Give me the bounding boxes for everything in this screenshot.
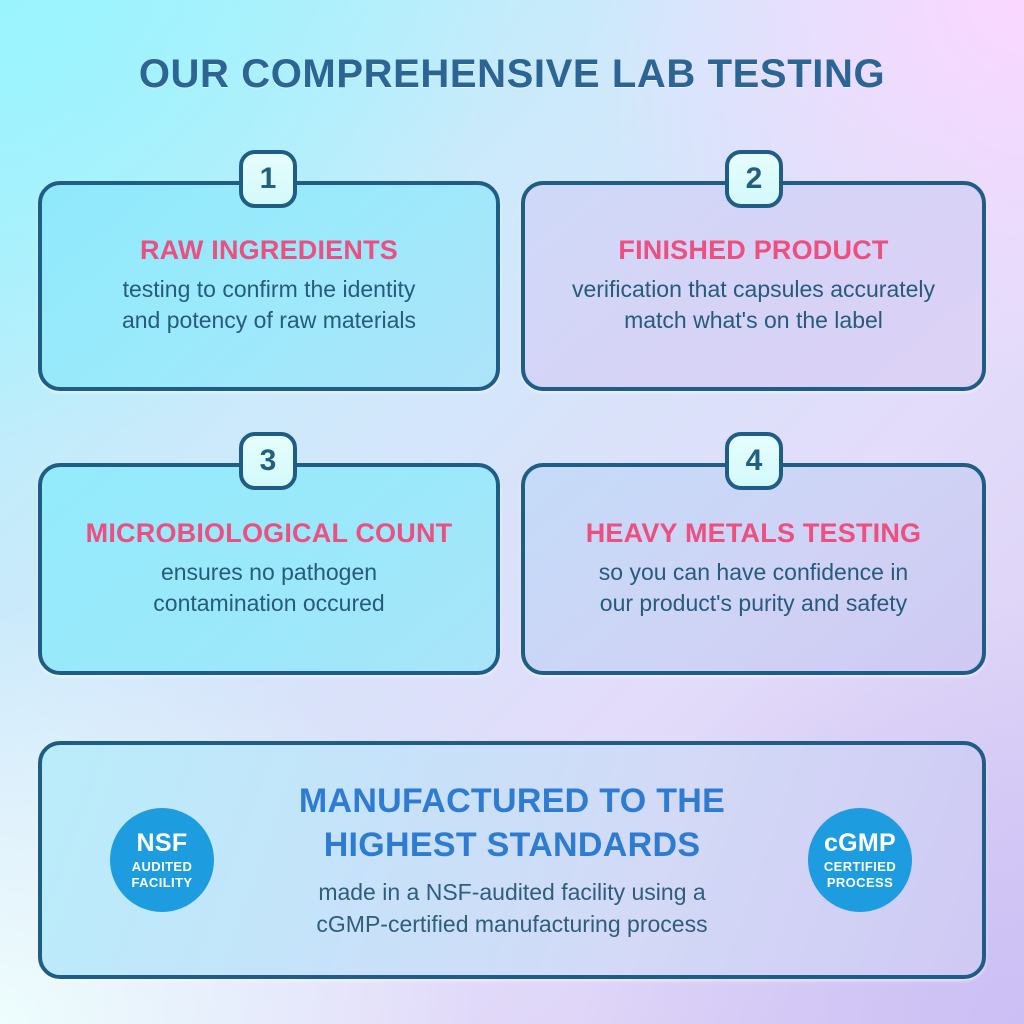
card-body: ensures no pathogen contamination occure…	[60, 557, 478, 620]
banner-subtext-line: made in a NSF-audited facility using a	[252, 877, 772, 909]
infographic-poster: OUR COMPREHENSIVE LAB TESTING RAW INGRED…	[0, 0, 1024, 1024]
testing-card-finished-product: FINISHED PRODUCT verification that capsu…	[521, 181, 986, 391]
card-body-line: testing to confirm the identity	[60, 274, 478, 305]
card-heading: MICROBIOLOGICAL COUNT	[60, 518, 478, 549]
card-content: HEAVY METALS TESTING so you can have con…	[525, 518, 982, 620]
testing-card-microbiological-count: MICROBIOLOGICAL COUNT ensures no pathoge…	[38, 463, 500, 675]
banner-subtext-line: cGMP-certified manufacturing process	[252, 909, 772, 941]
step-number-badge-2: 2	[725, 150, 783, 208]
card-body-line: so you can have confidence in	[543, 557, 964, 588]
card-heading: RAW INGREDIENTS	[60, 235, 478, 266]
card-body-line: ensures no pathogen	[60, 557, 478, 588]
seal-subtitle-line: FACILITY	[132, 875, 193, 891]
card-body: so you can have confidence in our produc…	[543, 557, 964, 620]
card-body: verification that capsules accurately ma…	[543, 274, 964, 337]
seal-subtitle-line: PROCESS	[824, 875, 896, 891]
page-title: OUR COMPREHENSIVE LAB TESTING	[0, 52, 1024, 97]
card-content: MICROBIOLOGICAL COUNT ensures no pathoge…	[42, 518, 496, 620]
card-heading: FINISHED PRODUCT	[543, 235, 964, 266]
testing-card-heavy-metals-testing: HEAVY METALS TESTING so you can have con…	[521, 463, 986, 675]
card-heading: HEAVY METALS TESTING	[543, 518, 964, 549]
banner-heading-line: MANUFACTURED TO THE	[252, 780, 772, 824]
seal-subtitle-line: AUDITED	[132, 859, 193, 875]
seal-title: NSF	[137, 830, 188, 856]
banner-subtext: made in a NSF-audited facility using a c…	[252, 877, 772, 940]
banner-heading: MANUFACTURED TO THE HIGHEST STANDARDS	[252, 780, 772, 867]
card-body-line: verification that capsules accurately	[543, 274, 964, 305]
card-body-line: match what's on the label	[543, 306, 964, 337]
nsf-audited-facility-seal: NSF AUDITED FACILITY	[110, 808, 214, 912]
card-body-line: contamination occured	[60, 589, 478, 620]
seal-subtitle: AUDITED FACILITY	[132, 859, 193, 891]
manufacturing-standards-banner: NSF AUDITED FACILITY MANUFACTURED TO THE…	[38, 741, 986, 979]
cgmp-certified-process-seal: cGMP CERTIFIED PROCESS	[808, 808, 912, 912]
seal-title: cGMP	[824, 830, 896, 856]
card-body-line: and potency of raw materials	[60, 306, 478, 337]
step-number-badge-4: 4	[725, 432, 783, 490]
testing-card-raw-ingredients: RAW INGREDIENTS testing to confirm the i…	[38, 181, 500, 391]
card-body: testing to confirm the identity and pote…	[60, 274, 478, 337]
banner-content: MANUFACTURED TO THE HIGHEST STANDARDS ma…	[252, 780, 772, 941]
seal-subtitle-line: CERTIFIED	[824, 859, 896, 875]
banner-heading-line: HIGHEST STANDARDS	[252, 823, 772, 867]
step-number-badge-3: 3	[239, 432, 297, 490]
step-number-badge-1: 1	[239, 150, 297, 208]
card-content: FINISHED PRODUCT verification that capsu…	[525, 235, 982, 337]
seal-subtitle: CERTIFIED PROCESS	[824, 859, 896, 891]
card-body-line: our product's purity and safety	[543, 589, 964, 620]
card-content: RAW INGREDIENTS testing to confirm the i…	[42, 235, 496, 337]
